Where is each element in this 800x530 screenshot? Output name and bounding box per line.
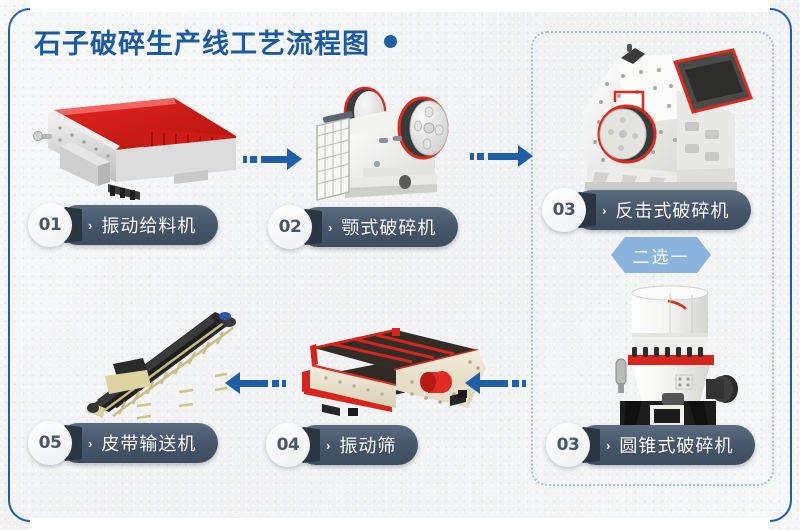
chevron-right-icon: › (326, 438, 330, 453)
step-number-badge: 01 (28, 203, 72, 247)
jaw-crusher-image (305, 70, 480, 210)
step-item-01[interactable]: 01 › 振动给料机 (28, 205, 218, 245)
step-item-04[interactable]: 04 › 振动筛 (266, 425, 418, 465)
arrow-screen-to-belt (225, 372, 289, 394)
step-label-text: 圆锥式破碎机 (619, 432, 733, 458)
step-number-badge: 03 (546, 423, 590, 467)
vibrating-screen-image (292, 312, 492, 427)
frame-bottom-gap (30, 518, 770, 530)
step-label-text: 颚式破碎机 (341, 214, 436, 240)
step-label-text: 皮带输送机 (101, 430, 196, 456)
cone-crusher-image (580, 275, 760, 440)
page-title: 石子破碎生产线工艺流程图 (34, 22, 397, 61)
step-number-badge: 02 (268, 205, 312, 249)
step-label-pill[interactable]: › 皮带输送机 (58, 423, 218, 463)
impact-crusher-image (565, 40, 770, 205)
arrow-feeder-to-jaw (243, 148, 302, 170)
arrow-crusher-to-screen (465, 372, 529, 394)
arrow-jaw-to-impact (470, 145, 533, 167)
chevron-right-icon: › (328, 220, 332, 235)
frame-top-gap (30, 0, 770, 12)
chevron-right-icon: › (602, 203, 606, 218)
step-label-text: 振动给料机 (101, 212, 196, 238)
belt-conveyor-image (75, 292, 275, 427)
step-number-badge: 03 (542, 188, 586, 232)
step-label-pill[interactable]: › 反击式破碎机 (572, 190, 751, 230)
chevron-right-icon: › (606, 438, 610, 453)
step-number-badge: 04 (266, 423, 310, 467)
vibrating-feeder-image (24, 88, 244, 203)
chevron-right-icon: › (88, 218, 92, 233)
step-label-text: 反击式破碎机 (615, 197, 729, 223)
step-item-03-cone[interactable]: 03 › 圆锥式破碎机 (546, 425, 755, 465)
chevron-right-icon: › (88, 436, 92, 451)
title-dot-icon (384, 35, 397, 48)
step-item-02[interactable]: 02 › 颚式破碎机 (268, 207, 458, 247)
step-label-pill[interactable]: › 振动筛 (296, 425, 418, 465)
step-label-pill[interactable]: › 颚式破碎机 (298, 207, 458, 247)
step-item-05[interactable]: 05 › 皮带输送机 (28, 423, 218, 463)
step-item-03-impact[interactable]: 03 › 反击式破碎机 (542, 190, 751, 230)
step-label-pill[interactable]: › 圆锥式破碎机 (576, 425, 755, 465)
step-label-pill[interactable]: › 振动给料机 (58, 205, 218, 245)
step-label-text: 振动筛 (339, 432, 396, 458)
title-text: 石子破碎生产线工艺流程图 (34, 22, 370, 61)
choose-one-badge: 二选一 (611, 237, 711, 273)
choose-one-text: 二选一 (633, 243, 690, 268)
step-number-badge: 05 (28, 421, 72, 465)
flowchart-canvas: 石子破碎生产线工艺流程图 (0, 0, 800, 530)
